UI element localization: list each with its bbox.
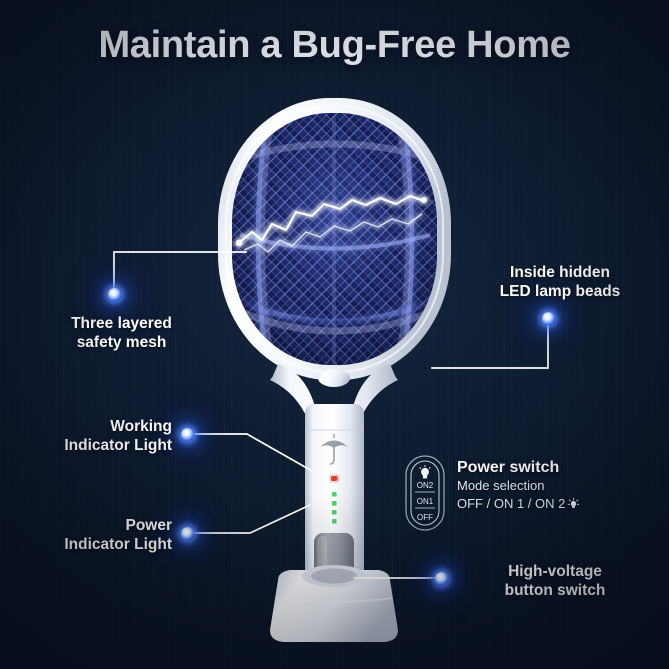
- power-switch-modes-text: OFF / ON 1 / ON 2: [457, 495, 565, 513]
- glow-dot-icon-mesh: [108, 288, 121, 301]
- callout-inside-hidden-led-lamp-beads: Inside hidden LED lamp beads: [470, 263, 650, 302]
- power-indicator-led: [331, 476, 338, 481]
- glow-dot-icon-hv: [435, 572, 448, 585]
- glow-dot-icon-power: [181, 527, 194, 540]
- callout-power-indicator-light: Power Indicator Light: [20, 516, 172, 555]
- glow-dot-icon-working: [181, 428, 194, 441]
- power-switch-modes: OFF / ON 1 / ON 2: [457, 495, 662, 513]
- power-switch-subtitle: Mode selection: [457, 477, 662, 495]
- power-switch-title: Power switch: [457, 458, 662, 477]
- switch-label-off: OFF: [417, 513, 433, 522]
- switch-label-on2: ON2: [417, 481, 434, 490]
- callout-working-indicator-light: Working Indicator Light: [20, 417, 172, 456]
- light-bulb-icon: [567, 497, 580, 510]
- connector-working: [187, 434, 312, 471]
- glow-dot-icon-led: [542, 312, 555, 325]
- power-switch-callout: Power switch Mode selection OFF / ON 1 /…: [457, 458, 662, 512]
- light-bulb-icon: [420, 465, 431, 478]
- switch-label-on1: ON1: [417, 497, 434, 506]
- callout-three-layered-safety-mesh: Three layered safety mesh: [34, 314, 209, 353]
- infographic-canvas: Maintain a Bug-Free Home: [0, 0, 669, 669]
- power-switch-diagram: ON2 ON1 OFF: [406, 456, 444, 530]
- callout-high-voltage-button-switch: High-voltage button switch: [460, 562, 650, 601]
- connector-power: [187, 505, 310, 533]
- charging-base: [270, 565, 398, 642]
- connector-led: [432, 318, 548, 368]
- racket-head: [218, 98, 451, 387]
